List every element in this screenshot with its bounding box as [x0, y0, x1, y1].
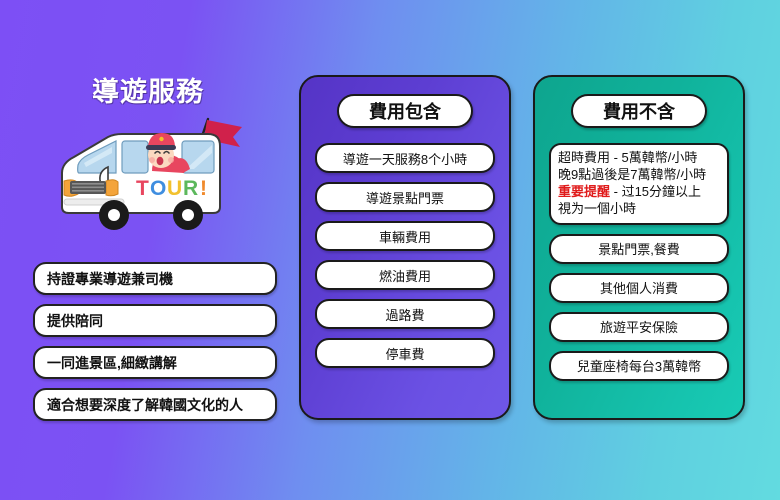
list-item[interactable]: 持證專業導遊兼司機: [33, 262, 277, 295]
fee-included-header: 費用包含: [337, 94, 473, 128]
fee-excluded-header: 費用不含: [571, 94, 707, 128]
list-item[interactable]: 適合想要深度了解韓國文化的人: [33, 388, 277, 421]
list-item[interactable]: 過路費: [315, 299, 495, 329]
feature-list: 持證專業導遊兼司機 提供陪同 一同進景區,細緻講解 適合想要深度了解韓國文化的人: [33, 262, 277, 421]
list-item[interactable]: 車輛費用: [315, 221, 495, 251]
note-line-2: 晚9點過後是7萬韓幣/小時: [558, 166, 720, 183]
svg-text:!: !: [200, 177, 207, 200]
list-item[interactable]: 提供陪同: [33, 304, 277, 337]
svg-text:O: O: [150, 177, 166, 200]
important-notice-label: 重要提醒: [558, 184, 610, 199]
page-title: 導遊服務: [92, 70, 204, 109]
svg-text:R: R: [183, 177, 198, 200]
list-item[interactable]: 其他個人消費: [549, 273, 729, 303]
fee-excluded-list: 超時費用 - 5萬韓幣/小時 晚9點過後是7萬韓幣/小時 重要提醒 - 过15分…: [549, 143, 729, 381]
overtime-note-box[interactable]: 超時費用 - 5萬韓幣/小時 晚9點過後是7萬韓幣/小時 重要提醒 - 过15分…: [549, 143, 729, 225]
note-line-3-rest: - 过15分鐘以上: [610, 184, 701, 199]
note-line-3: 重要提醒 - 过15分鐘以上: [558, 183, 720, 200]
left-panel: 導遊服務: [0, 70, 296, 440]
list-item[interactable]: 兒童座椅每台3萬韓幣: [549, 351, 729, 381]
svg-text:U: U: [167, 177, 182, 200]
list-item[interactable]: 導遊一天服務8个小時: [315, 143, 495, 173]
note-line-4: 視为一個小時: [558, 200, 720, 217]
list-item[interactable]: 燃油費用: [315, 260, 495, 290]
fee-included-card: 費用包含 導遊一天服務8个小時 導遊景點門票 車輛費用 燃油費用 過路費 停車費: [299, 75, 511, 420]
tour-bus-illustration: T O U R !: [48, 115, 248, 233]
list-item[interactable]: 一同進景區,細緻講解: [33, 346, 277, 379]
list-item[interactable]: 旅遊平安保險: [549, 312, 729, 342]
fee-included-list: 導遊一天服務8个小時 導遊景點門票 車輛費用 燃油費用 過路費 停車費: [315, 143, 495, 368]
list-item[interactable]: 景點門票,餐費: [549, 234, 729, 264]
list-item[interactable]: 停車費: [315, 338, 495, 368]
fee-excluded-card: 費用不含 超時費用 - 5萬韓幣/小時 晚9點過後是7萬韓幣/小時 重要提醒 -…: [533, 75, 745, 420]
list-item[interactable]: 導遊景點門票: [315, 182, 495, 212]
note-line-1: 超時費用 - 5萬韓幣/小時: [558, 149, 720, 166]
svg-text:T: T: [136, 177, 149, 200]
